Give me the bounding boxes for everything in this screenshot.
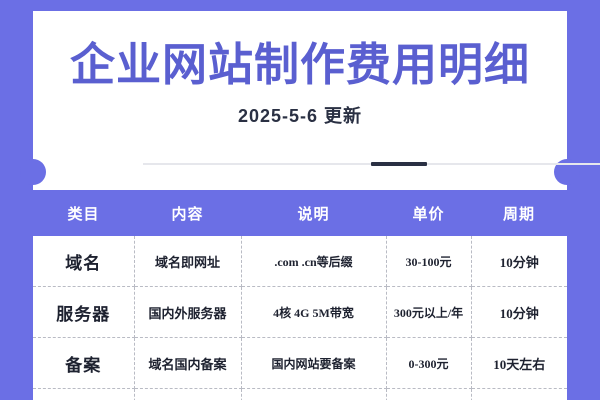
update-date-label: 2025-5-6 更新 xyxy=(33,90,567,128)
cell-note: 4核 4G 5M带宽 xyxy=(241,287,386,338)
table-row: 服务器 国内外服务器 4核 4G 5M带宽 300元以上/年 10分钟 xyxy=(33,287,567,338)
cell-category xyxy=(33,389,134,400)
table-header-row: 类目 内容 说明 单价 周期 xyxy=(33,190,567,236)
cell-category: 服务器 xyxy=(33,287,134,338)
cell-period: 10分钟 xyxy=(471,287,567,338)
table-row: 备案 域名国内备案 国内网站要备案 0-300元 10天左右 xyxy=(33,338,567,389)
cell-content: 域名即网址 xyxy=(134,236,241,287)
column-header-category: 类目 xyxy=(33,190,134,236)
pricing-table: 类目 内容 说明 单价 周期 域名 域名即网址 .com .cn等后缀 30-1… xyxy=(33,190,567,400)
poster-header: 企业网站制作费用明细 2025-5-6 更新 xyxy=(33,11,567,128)
cell-category: 备案 xyxy=(33,338,134,389)
page-title: 企业网站制作费用明细 xyxy=(33,11,567,90)
column-header-content: 内容 xyxy=(134,190,241,236)
cell-note: 国内网站要备案 xyxy=(241,338,386,389)
cell-note xyxy=(241,389,386,400)
cell-period xyxy=(471,389,567,400)
cell-note: .com .cn等后缀 xyxy=(241,236,386,287)
table-row xyxy=(33,389,567,400)
ticket-notch-left xyxy=(20,159,46,185)
cell-content: 域名国内备案 xyxy=(134,338,241,389)
pricing-table-body: 域名 域名即网址 .com .cn等后缀 30-100元 10分钟 服务器 国内… xyxy=(33,236,567,400)
column-header-price: 单价 xyxy=(386,190,471,236)
pricing-table-header: 类目 内容 说明 单价 周期 xyxy=(33,190,567,236)
divider-accent-bar xyxy=(371,162,427,166)
column-header-period: 周期 xyxy=(471,190,567,236)
cell-content xyxy=(134,389,241,400)
cell-price: 300元以上/年 xyxy=(386,287,471,338)
cell-category: 域名 xyxy=(33,236,134,287)
column-header-note: 说明 xyxy=(241,190,386,236)
table-row: 域名 域名即网址 .com .cn等后缀 30-100元 10分钟 xyxy=(33,236,567,287)
ticket-card: 企业网站制作费用明细 2025-5-6 更新 类目 内容 说明 单价 周期 xyxy=(33,11,567,400)
cell-price xyxy=(386,389,471,400)
cell-price: 30-100元 xyxy=(386,236,471,287)
cell-period: 10天左右 xyxy=(471,338,567,389)
cell-price: 0-300元 xyxy=(386,338,471,389)
cell-content: 国内外服务器 xyxy=(134,287,241,338)
poster-canvas: 企业网站制作费用明细 2025-5-6 更新 类目 内容 说明 单价 周期 xyxy=(0,0,600,400)
cell-period: 10分钟 xyxy=(471,236,567,287)
